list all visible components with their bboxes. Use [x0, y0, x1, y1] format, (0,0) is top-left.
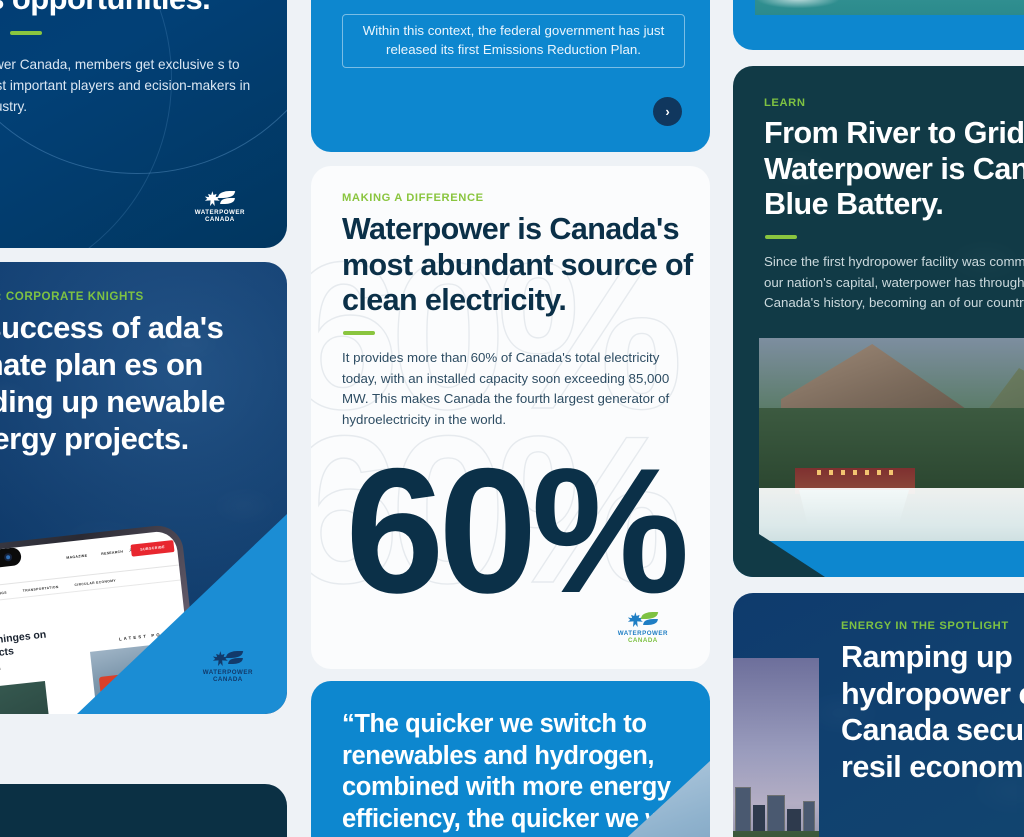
nav-magazine[interactable]: MAGAZINE — [66, 554, 87, 560]
stat-eyebrow: MAKING A DIFFERENCE — [342, 192, 484, 204]
rapids-photo — [755, 0, 1024, 15]
card-membership[interactable]: ess opportunities. aterPower Canada, mem… — [0, 0, 287, 248]
waterpower-canada-logo: WATERPOWER CANADA — [618, 611, 668, 645]
maple-leaf-icon — [628, 611, 658, 628]
camera-icon — [4, 553, 13, 562]
emissions-quote-text: Within this context, the federal governm… — [359, 22, 668, 60]
card-stat-60-percent[interactable]: 60% 60% MAKING A DIFFERENCE Waterpower i… — [311, 166, 710, 669]
waterpower-canada-logo: WATERPOWER CANADA — [195, 190, 245, 224]
stat-body: It provides more than 60% of Canada's to… — [342, 348, 694, 430]
section-buildings[interactable]: BUILDINGS — [0, 590, 7, 596]
card-corporate-knights[interactable]: AKING WAVES: CORPORATE KNIGHTS The succe… — [0, 262, 287, 714]
learn-title: From River to Grid: Waterpower is Can Bi… — [764, 116, 1024, 223]
card-emissions-plan[interactable]: Within this context, the federal governm… — [311, 0, 710, 152]
blue-footer-accent — [733, 541, 1024, 577]
stat-title: Waterpower is Canada's most abundant sou… — [342, 212, 702, 319]
chevron-right-icon[interactable]: › — [653, 97, 682, 126]
membership-title: ess opportunities. — [0, 0, 284, 17]
card-learn-big-blue-battery[interactable]: LEARN From River to Grid: Waterpower is … — [733, 66, 1024, 577]
spotlight-eyebrow: ENERGY IN THE SPOTLIGHT — [841, 620, 1009, 632]
ottawa-skyline-photo — [733, 658, 819, 837]
learn-eyebrow: LEARN — [764, 97, 806, 109]
phone-dynamic-island — [0, 547, 22, 573]
card-rapids[interactable] — [733, 0, 1024, 50]
card-pull-quote[interactable]: “The quicker we switch to renewables and… — [311, 681, 710, 837]
logo-line-2: CANADA — [195, 217, 245, 224]
green-rule — [10, 31, 42, 35]
waterpower-canada-logo: WATERPOWER CANADA — [203, 650, 253, 684]
logo-line-2: CANADA — [203, 677, 253, 684]
article-hero-image — [0, 681, 56, 714]
city-skyline — [733, 767, 819, 837]
learn-body: Since the first hydropower facility was … — [764, 252, 1024, 314]
maple-leaf-icon — [213, 650, 243, 667]
knights-title: The success of ada's climate plan es on … — [0, 310, 238, 458]
maple-leaf-icon — [205, 190, 235, 207]
hydroelectric-dam-photo — [759, 338, 1024, 550]
knights-eyebrow: AKING WAVES: CORPORATE KNIGHTS — [0, 290, 280, 303]
article-dek: urity into the spotlight, ramping up hyd… — [0, 658, 67, 684]
spotlight-title: Ramping up hydropower c help Canada secu… — [841, 639, 1024, 785]
site-top-nav[interactable]: MAGAZINE RESEARCH — [66, 550, 123, 560]
card-energy-spotlight[interactable]: ENERGY IN THE SPOTLIGHT Ramping up hydro… — [733, 593, 1024, 837]
card-together[interactable]: THER — [0, 784, 287, 837]
green-rule — [343, 331, 375, 335]
pull-quote-text: “The quicker we switch to renewables and… — [342, 709, 692, 837]
stat-big-number: 60% — [315, 442, 710, 620]
membership-body: aterPower Canada, members get exclusive … — [0, 54, 254, 117]
green-rule — [765, 235, 797, 239]
subscribe-button[interactable]: SUBSCRIBE — [131, 540, 175, 557]
logo-line-2: CANADA — [618, 638, 668, 645]
screenshot-stage: ess opportunities. aterPower Canada, mem… — [0, 0, 1024, 837]
nav-research[interactable]: RESEARCH — [101, 550, 123, 556]
section-transportation[interactable]: TRANSPORTATION — [23, 584, 59, 592]
section-circular-economy[interactable]: CIRCULAR ECONOMY — [74, 578, 116, 587]
emissions-quote-box: Within this context, the federal governm… — [342, 14, 685, 68]
water-foam-texture — [755, 0, 1024, 15]
decorative-arc-secondary — [0, 0, 172, 248]
